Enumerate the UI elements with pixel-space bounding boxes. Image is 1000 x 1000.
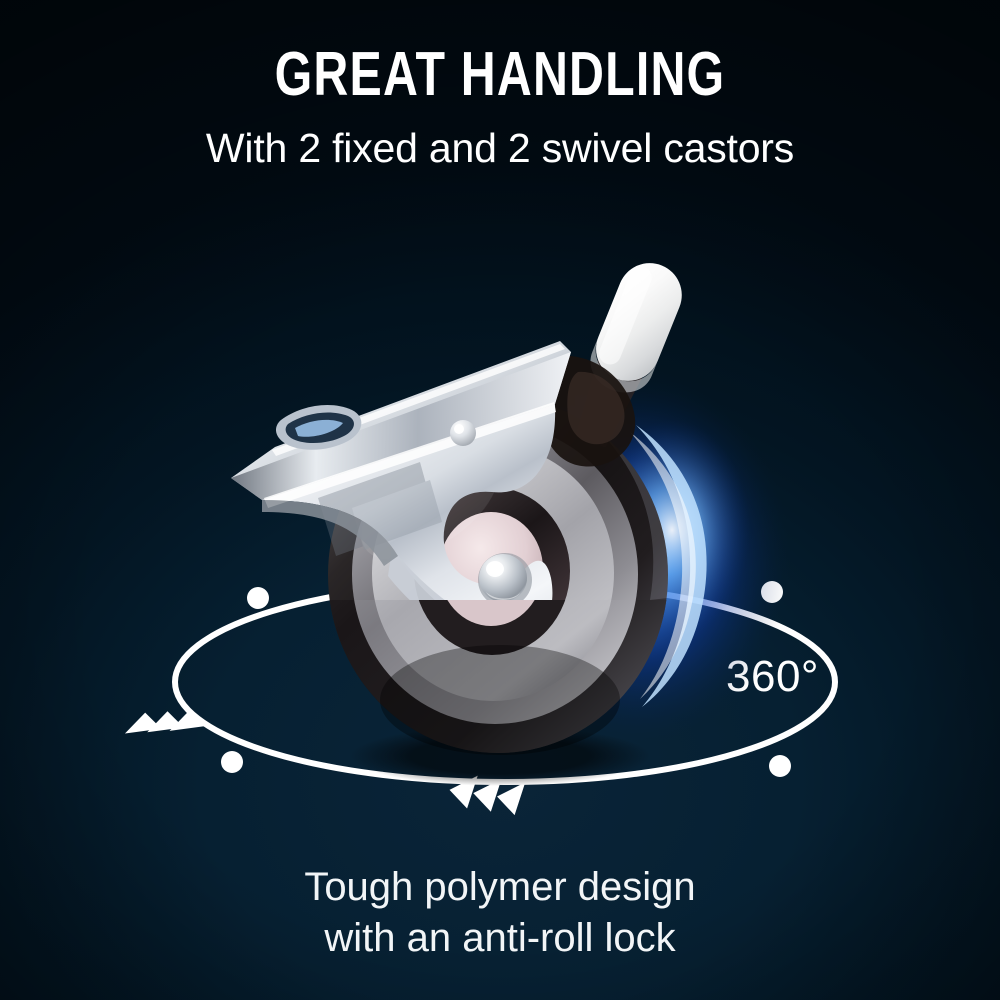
wheel-occluder bbox=[0, 0, 1000, 1000]
product-illustration: 75X25 bbox=[0, 0, 1000, 1000]
feature-graphic-canvas: 75X25 bbox=[0, 0, 1000, 1000]
